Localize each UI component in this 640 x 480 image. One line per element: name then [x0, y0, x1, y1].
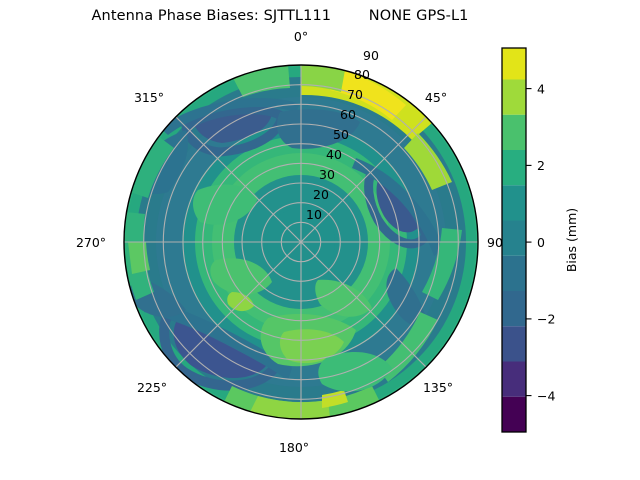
radial-label-10: 10 [306, 207, 322, 222]
angular-label-45: 45° [425, 90, 447, 105]
colorbar-band-5 [502, 221, 526, 256]
colorbar-band-4 [502, 256, 526, 291]
colorbar-band-0 [502, 397, 526, 432]
angular-label-315: 315° [134, 90, 164, 105]
colorbar-band-9 [502, 80, 526, 115]
colorbar-band-3 [502, 291, 526, 326]
colorbar-band-10 [502, 48, 526, 80]
angular-label-0: 0° [294, 29, 308, 44]
radial-label-90: 90 [363, 48, 379, 63]
polar-plot-svg: 0° 45° 90 135° 180° 225° 270° 315° 10 20… [0, 0, 640, 480]
colorbar-tick-label-neg4: −4 [537, 388, 555, 403]
colorbar-band-8 [502, 115, 526, 150]
colorbar-band-1 [502, 362, 526, 397]
polar-grid [124, 65, 478, 419]
angular-label-270: 270° [76, 235, 106, 250]
polar-plot-container: 0° 45° 90 135° 180° 225° 270° 315° 10 20… [0, 0, 640, 480]
colorbar-axis-label: Bias (mm) [564, 208, 579, 272]
radial-label-50: 50 [333, 127, 349, 142]
angular-label-180: 180° [279, 440, 309, 455]
colorbar-tick-label-neg2: −2 [537, 312, 555, 327]
radial-label-60: 60 [340, 107, 356, 122]
radial-label-30: 30 [319, 167, 335, 182]
colorbar-tick-label-2: 2 [537, 158, 545, 173]
colorbar-tick-label-0: 0 [537, 235, 545, 250]
radial-label-80: 80 [354, 67, 370, 82]
colorbar-ticks [526, 89, 532, 396]
radial-label-20: 20 [313, 187, 329, 202]
colorbar-band-7 [502, 150, 526, 185]
colorbar-tick-label-4: 4 [537, 81, 545, 96]
colorbar[interactable]: 4 2 0 −2 −4 Bias (mm) [502, 48, 579, 432]
angular-label-135: 135° [423, 380, 453, 395]
angular-label-90: 90 [487, 235, 503, 250]
figure-canvas: Antenna Phase Biases: SJTTL111 NONE GPS-… [0, 0, 640, 480]
radial-label-40: 40 [326, 147, 342, 162]
radial-label-70: 70 [347, 87, 363, 102]
colorbar-bands [502, 48, 526, 432]
colorbar-band-2 [502, 326, 526, 361]
colorbar-band-6 [502, 185, 526, 220]
angular-label-225: 225° [137, 380, 167, 395]
